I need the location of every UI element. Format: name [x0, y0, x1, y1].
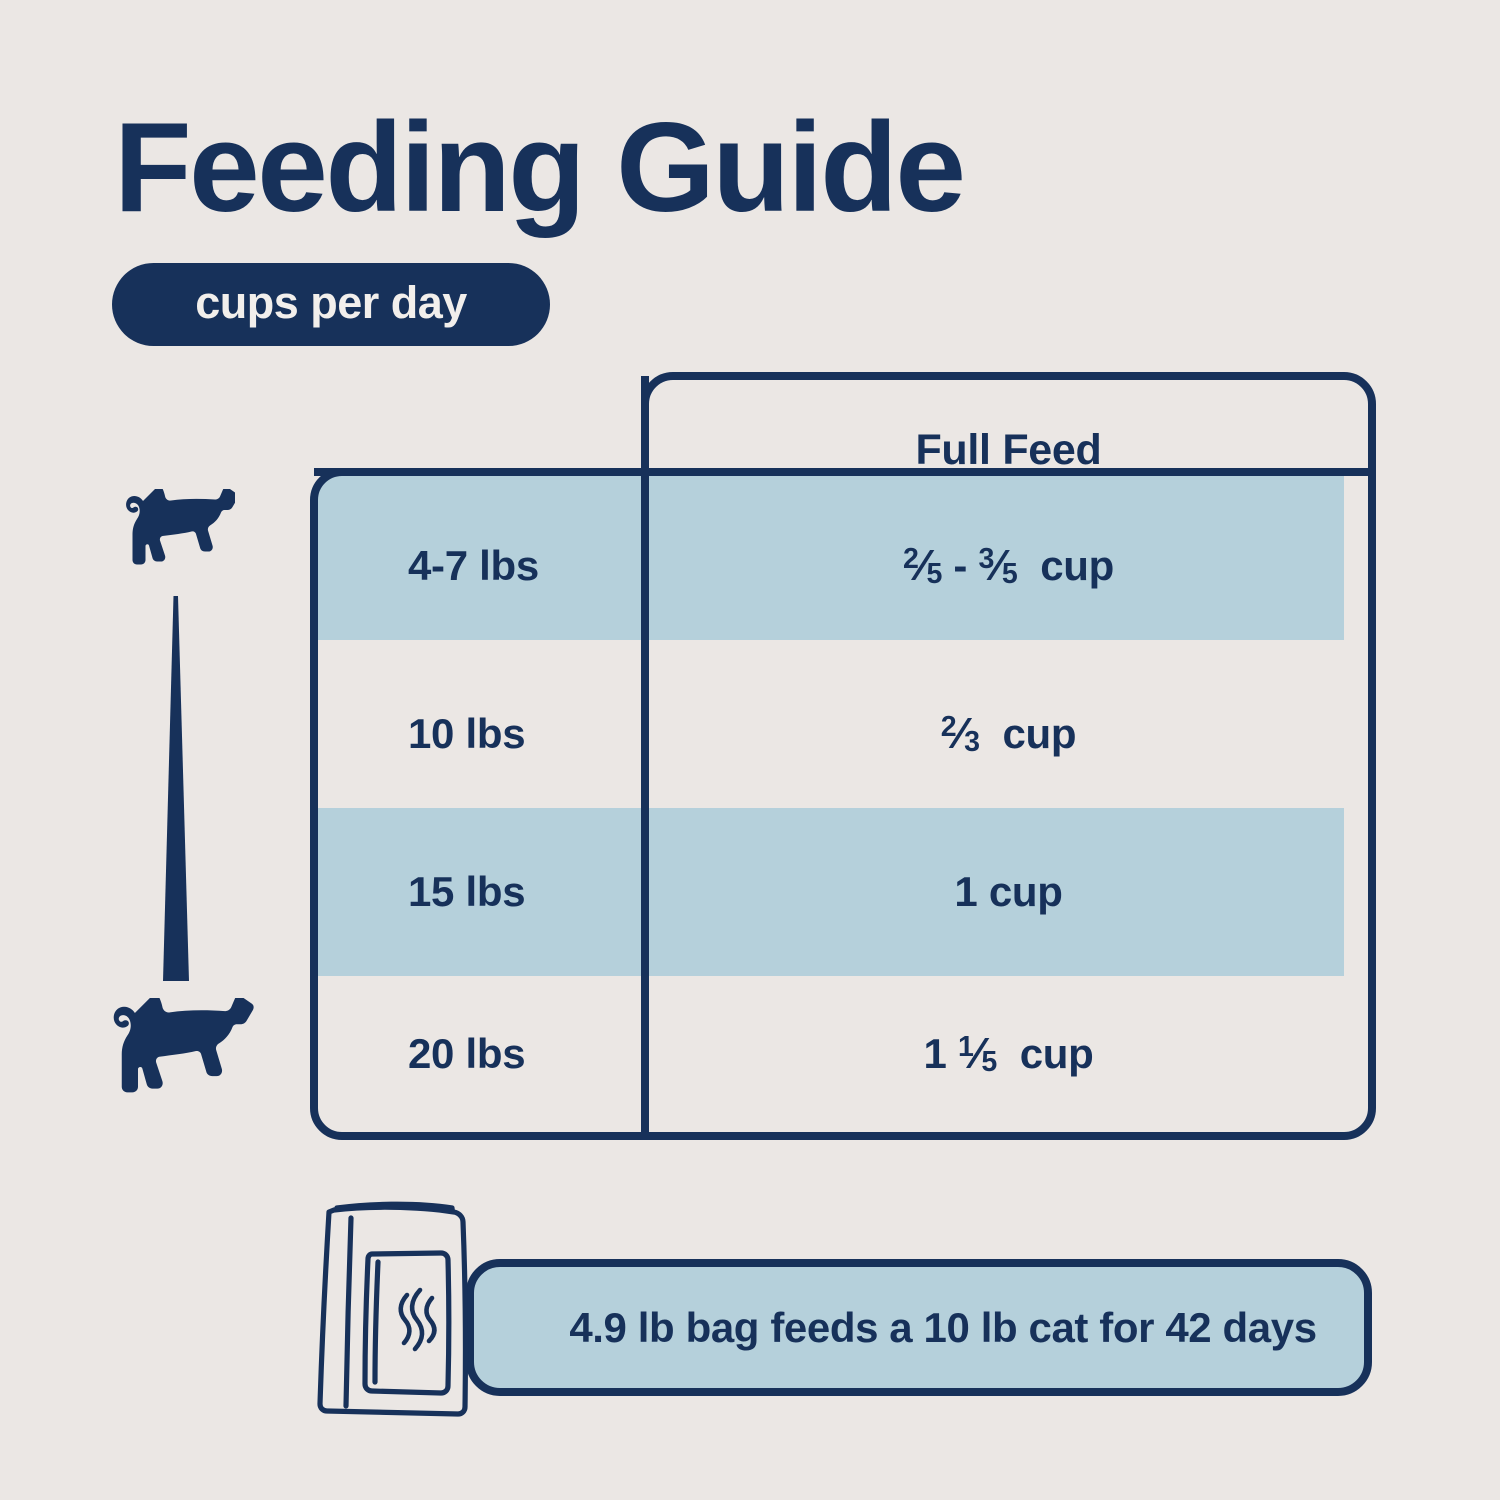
feeding-guide-infographic: Feeding Guide cups per day	[0, 0, 1500, 1500]
page-title: Feeding Guide	[114, 96, 964, 238]
cups-per-day-label: cups per day	[195, 277, 467, 332]
table-row-amount-1: 2⁄3 cup	[649, 692, 1368, 776]
amount-label-2: 1 cup	[954, 868, 1062, 916]
banner-label: 4.9 lb bag feeds a 10 lb cat for 42 days	[569, 1304, 1316, 1352]
table-row-weight-0: 4-7 lbs	[408, 524, 638, 608]
amount-label-0: 2⁄5 - 3⁄5 cup	[903, 541, 1114, 591]
table-row-weight-3: 20 lbs	[408, 1012, 638, 1096]
table-row-amount-3: 1 1⁄5 cup	[649, 1012, 1368, 1096]
amount-label-3: 1 1⁄5 cup	[924, 1029, 1094, 1079]
feeding-table: Full Feed 4-7 lbs 2⁄5 - 3⁄5 cup 10 lbs 2…	[310, 372, 1372, 1140]
table-row-weight-2: 15 lbs	[408, 850, 638, 934]
cat-walking-icon-large	[78, 998, 268, 1123]
cat-walking-icon-small	[112, 489, 235, 589]
size-scale-triangle-icon	[145, 596, 205, 981]
table-row-weight-1: 10 lbs	[408, 692, 638, 776]
food-bag-icon	[296, 1192, 502, 1418]
bag-duration-banner: 4.9 lb bag feeds a 10 lb cat for 42 days	[466, 1259, 1372, 1396]
table-row-amount-2: 1 cup	[649, 850, 1368, 934]
header-label-full-feed: Full Feed	[915, 426, 1101, 475]
banner-text-wrap: 4.9 lb bag feeds a 10 lb cat for 42 days	[466, 1259, 1372, 1396]
weight-label-0: 4-7 lbs	[408, 542, 539, 590]
amount-label-1: 2⁄3 cup	[941, 709, 1077, 759]
table-header-full-feed: Full Feed	[649, 400, 1368, 500]
cups-per-day-pill: cups per day	[112, 263, 550, 346]
weight-label-1: 10 lbs	[408, 710, 525, 758]
table-row-amount-0: 2⁄5 - 3⁄5 cup	[649, 524, 1368, 608]
weight-label-2: 15 lbs	[408, 868, 525, 916]
weight-label-3: 20 lbs	[408, 1030, 525, 1078]
